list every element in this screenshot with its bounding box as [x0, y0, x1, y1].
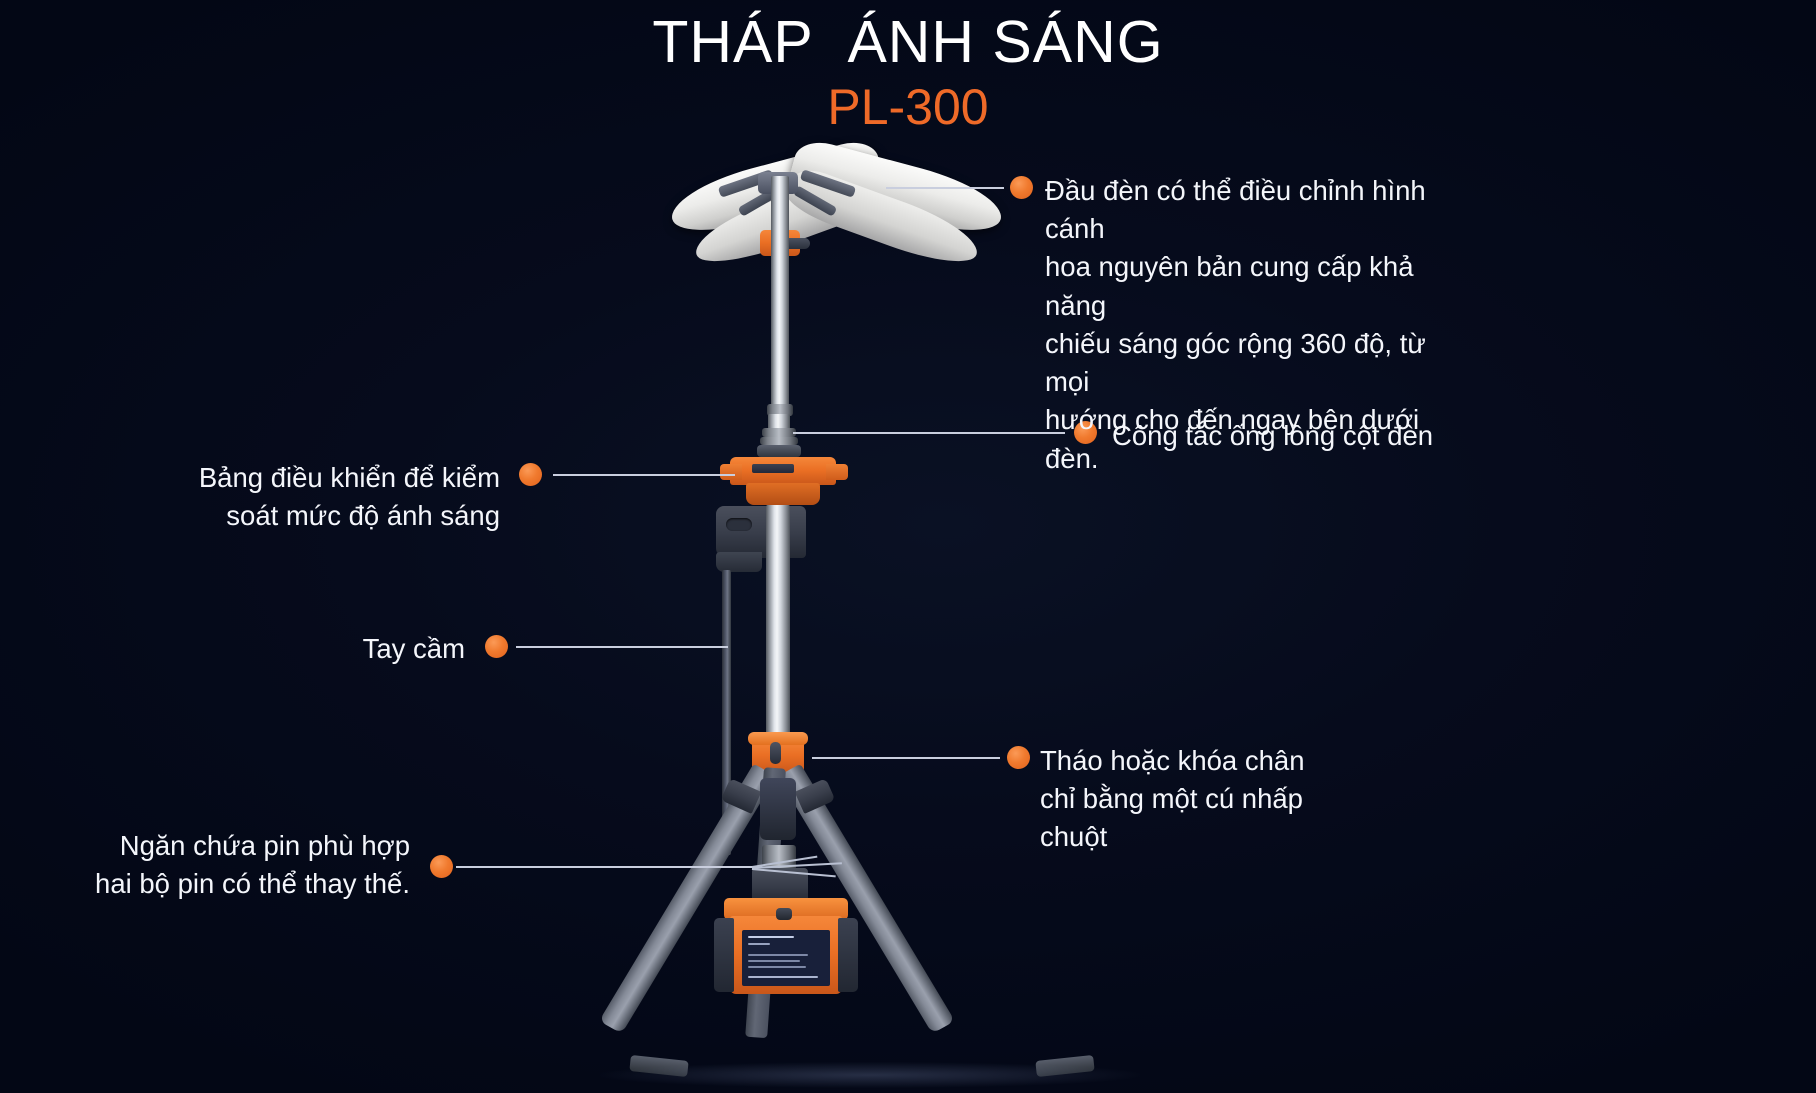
control-panel-lower	[746, 483, 820, 505]
light-arm-left-inner	[738, 185, 783, 217]
callout-dot-battery[interactable]	[430, 855, 453, 878]
handle-grip-hole	[726, 518, 752, 531]
control-panel-wing-right	[826, 464, 848, 480]
callout-dot-light-head[interactable]	[1010, 176, 1033, 199]
callout-text-battery: Ngăn chứa pin phù hợp hai bộ pin có thể …	[90, 827, 410, 903]
light-arm-right	[800, 169, 857, 198]
light-panel-right	[787, 136, 1008, 242]
mast-upper-tube	[771, 176, 789, 406]
callout-text-handle: Tay cầm	[200, 630, 465, 668]
callout-dot-control-panel[interactable]	[519, 463, 542, 486]
leg-lock-collar	[752, 738, 804, 774]
model-name: PL-300	[0, 78, 1816, 136]
light-arm-left	[718, 169, 775, 198]
leg-lock-cap	[748, 732, 808, 745]
mast-middle-tube	[768, 414, 790, 430]
handle-bracket-foot	[716, 552, 762, 572]
battery-box-side-right	[838, 918, 858, 992]
leg-hinge-center	[760, 778, 796, 840]
product-image-light-tower	[0, 0, 1816, 1093]
leader-line-battery-branch-3	[752, 868, 836, 877]
light-panel-left	[665, 136, 886, 242]
leader-line-handle	[516, 646, 728, 648]
mast-lower-tube	[766, 505, 790, 745]
leader-line-telescoping-switch	[793, 432, 1065, 434]
leg-hinge-right	[795, 778, 836, 814]
light-arm-right-inner	[793, 185, 838, 217]
tripod-leg-center-back	[745, 767, 786, 1038]
callout-dot-handle[interactable]	[485, 635, 508, 658]
light-head-knob	[772, 238, 810, 249]
floor-shadow	[600, 1062, 1140, 1088]
tripod-leg-right	[778, 764, 955, 1034]
battery-box-latch	[776, 908, 792, 920]
handle-bracket	[716, 506, 806, 558]
mast-collar-mid2	[760, 437, 798, 445]
leader-line-light-head	[886, 187, 1004, 189]
tripod-foot-left	[629, 1055, 688, 1077]
light-head-yoke	[758, 172, 798, 194]
infographic-canvas: THÁP ÁNH SÁNG PL-300	[0, 0, 1816, 1093]
mast-clamp-dark	[757, 445, 801, 457]
callout-text-telescoping-switch: Công tắc ống lồng cột đèn	[1112, 417, 1512, 455]
mast-collar-mid	[762, 428, 796, 437]
battery-box-body	[730, 916, 842, 994]
control-panel-display	[752, 464, 794, 473]
light-panel-right-lower	[781, 163, 985, 275]
leader-line-leg-lock	[812, 757, 1000, 759]
callout-text-leg-lock: Tháo hoặc khóa chân chỉ bằng một cú nhấp…	[1040, 742, 1370, 857]
page-title: THÁP ÁNH SÁNG	[0, 8, 1816, 76]
tripod-leg-left	[599, 764, 776, 1034]
tripod-foot-right	[1035, 1055, 1094, 1077]
leader-line-control-panel	[553, 474, 735, 476]
battery-box-lid	[724, 898, 848, 920]
handle-bar	[722, 570, 731, 855]
control-panel-body	[730, 457, 836, 485]
light-panel-left-lower	[688, 163, 892, 275]
light-head-hub	[760, 230, 800, 256]
callout-dot-leg-lock[interactable]	[1007, 746, 1030, 769]
leg-lock-button	[770, 742, 781, 764]
callout-text-control-panel: Bảng điều khiển để kiểm soát mức độ ánh …	[180, 459, 500, 535]
control-panel-wing-left	[720, 464, 742, 480]
battery-box-side-left	[714, 918, 734, 992]
battery-spec-label	[742, 930, 830, 986]
leader-line-battery	[456, 866, 754, 868]
leg-hinge-left	[721, 778, 762, 814]
mast-collar-upper	[767, 404, 793, 416]
